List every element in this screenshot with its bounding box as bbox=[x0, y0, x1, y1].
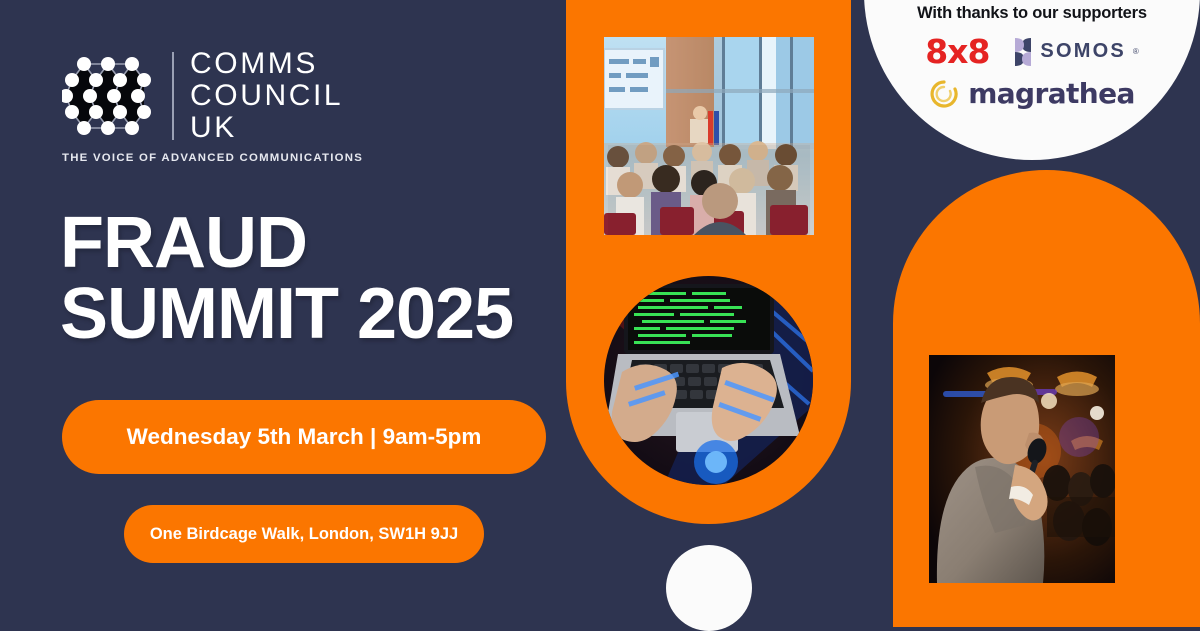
supporters-panel: With thanks to our supporters 8x8 SOMOS … bbox=[864, 0, 1200, 160]
conference-audience-photo bbox=[604, 37, 814, 235]
event-title-line-1: FRAUD bbox=[60, 208, 513, 279]
brand-wordmark: COMMS COUNCIL UK bbox=[190, 48, 343, 143]
supporter-logo-somos: SOMOS ® bbox=[1013, 37, 1138, 67]
brand-word-line-3: UK bbox=[190, 112, 343, 144]
supporter-logo-8x8: 8x8 bbox=[925, 32, 989, 71]
brand-tagline: THE VOICE OF ADVANCED COMMUNICATIONS bbox=[62, 152, 363, 164]
hands-typing-laptop-photo bbox=[604, 276, 813, 485]
brand-word-line-1: COMMS bbox=[190, 48, 343, 80]
supporter-logo-magrathea-text: magrathea bbox=[968, 77, 1135, 110]
magrathea-ring-icon bbox=[929, 79, 959, 109]
event-title: FRAUD SUMMIT 2025 bbox=[60, 208, 513, 349]
logo-divider bbox=[172, 52, 174, 140]
registered-mark: ® bbox=[1133, 47, 1139, 56]
hexagon-network-icon bbox=[62, 50, 158, 142]
supporter-logo-row-2: magrathea bbox=[929, 77, 1135, 110]
somos-s-icon bbox=[1013, 37, 1033, 67]
supporter-logo-somos-text: SOMOS bbox=[1040, 40, 1125, 63]
speaker-with-microphone-photo bbox=[929, 355, 1115, 583]
supporters-title: With thanks to our supporters bbox=[917, 4, 1147, 23]
brand-word-line-2: COUNCIL bbox=[190, 80, 343, 112]
supporter-logo-row-1: 8x8 SOMOS ® bbox=[925, 32, 1139, 71]
comms-council-uk-logo: COMMS COUNCIL UK THE VOICE OF ADVANCED C… bbox=[62, 48, 363, 164]
event-location-pill: One Birdcage Walk, London, SW1H 9JJ bbox=[124, 505, 484, 563]
event-title-line-2: SUMMIT 2025 bbox=[60, 279, 513, 350]
event-date-pill: Wednesday 5th March | 9am-5pm bbox=[62, 400, 546, 474]
white-accent-circle bbox=[666, 545, 752, 631]
